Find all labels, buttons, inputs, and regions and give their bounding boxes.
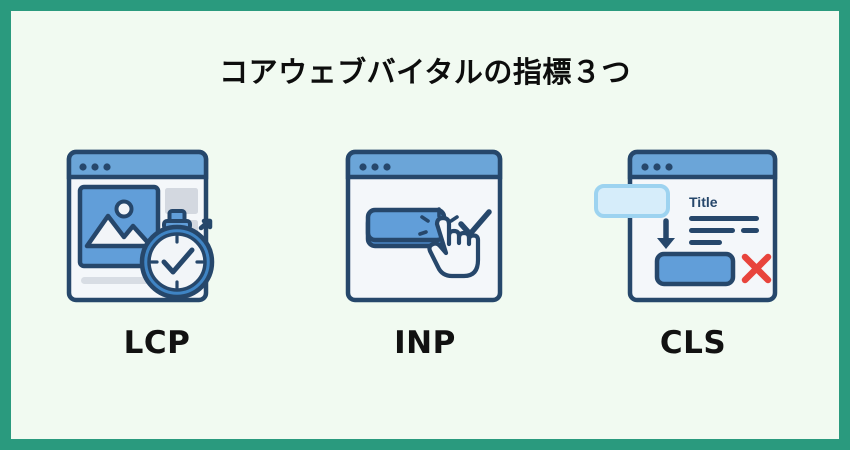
metric-card-inp: INP [320, 136, 530, 361]
browser-titlebar [348, 152, 500, 177]
metric-label-inp: INP [394, 325, 456, 361]
shifted-button[interactable] [657, 254, 733, 284]
shifted-ad-banner [596, 186, 668, 216]
metric-label-lcp: LCP [124, 325, 191, 361]
page-title: コアウェブバイタルの指標３つ [11, 49, 839, 91]
sun-icon [117, 202, 132, 217]
browser-dot-3 [665, 163, 672, 170]
target-button[interactable] [368, 210, 444, 246]
browser-dot-1 [641, 163, 648, 170]
browser-dot-1 [359, 163, 366, 170]
browser-dot-2 [91, 163, 98, 170]
infographic-canvas: コアウェブバイタルの指標３つ [0, 0, 850, 450]
cls-icon: Title [588, 136, 798, 311]
metric-label-cls: CLS [660, 325, 726, 361]
metric-card-cls: Title [588, 136, 798, 361]
lcp-icon [52, 136, 262, 311]
content-heading: Title [689, 194, 718, 210]
browser-titlebar [630, 152, 775, 177]
browser-titlebar [69, 152, 206, 177]
metrics-row: LCP [11, 136, 839, 361]
browser-dot-3 [383, 163, 390, 170]
metric-card-lcp: LCP [52, 136, 262, 361]
browser-dot-3 [103, 163, 110, 170]
browser-dot-1 [79, 163, 86, 170]
browser-dot-2 [371, 163, 378, 170]
inp-icon [320, 136, 530, 311]
browser-dot-2 [653, 163, 660, 170]
